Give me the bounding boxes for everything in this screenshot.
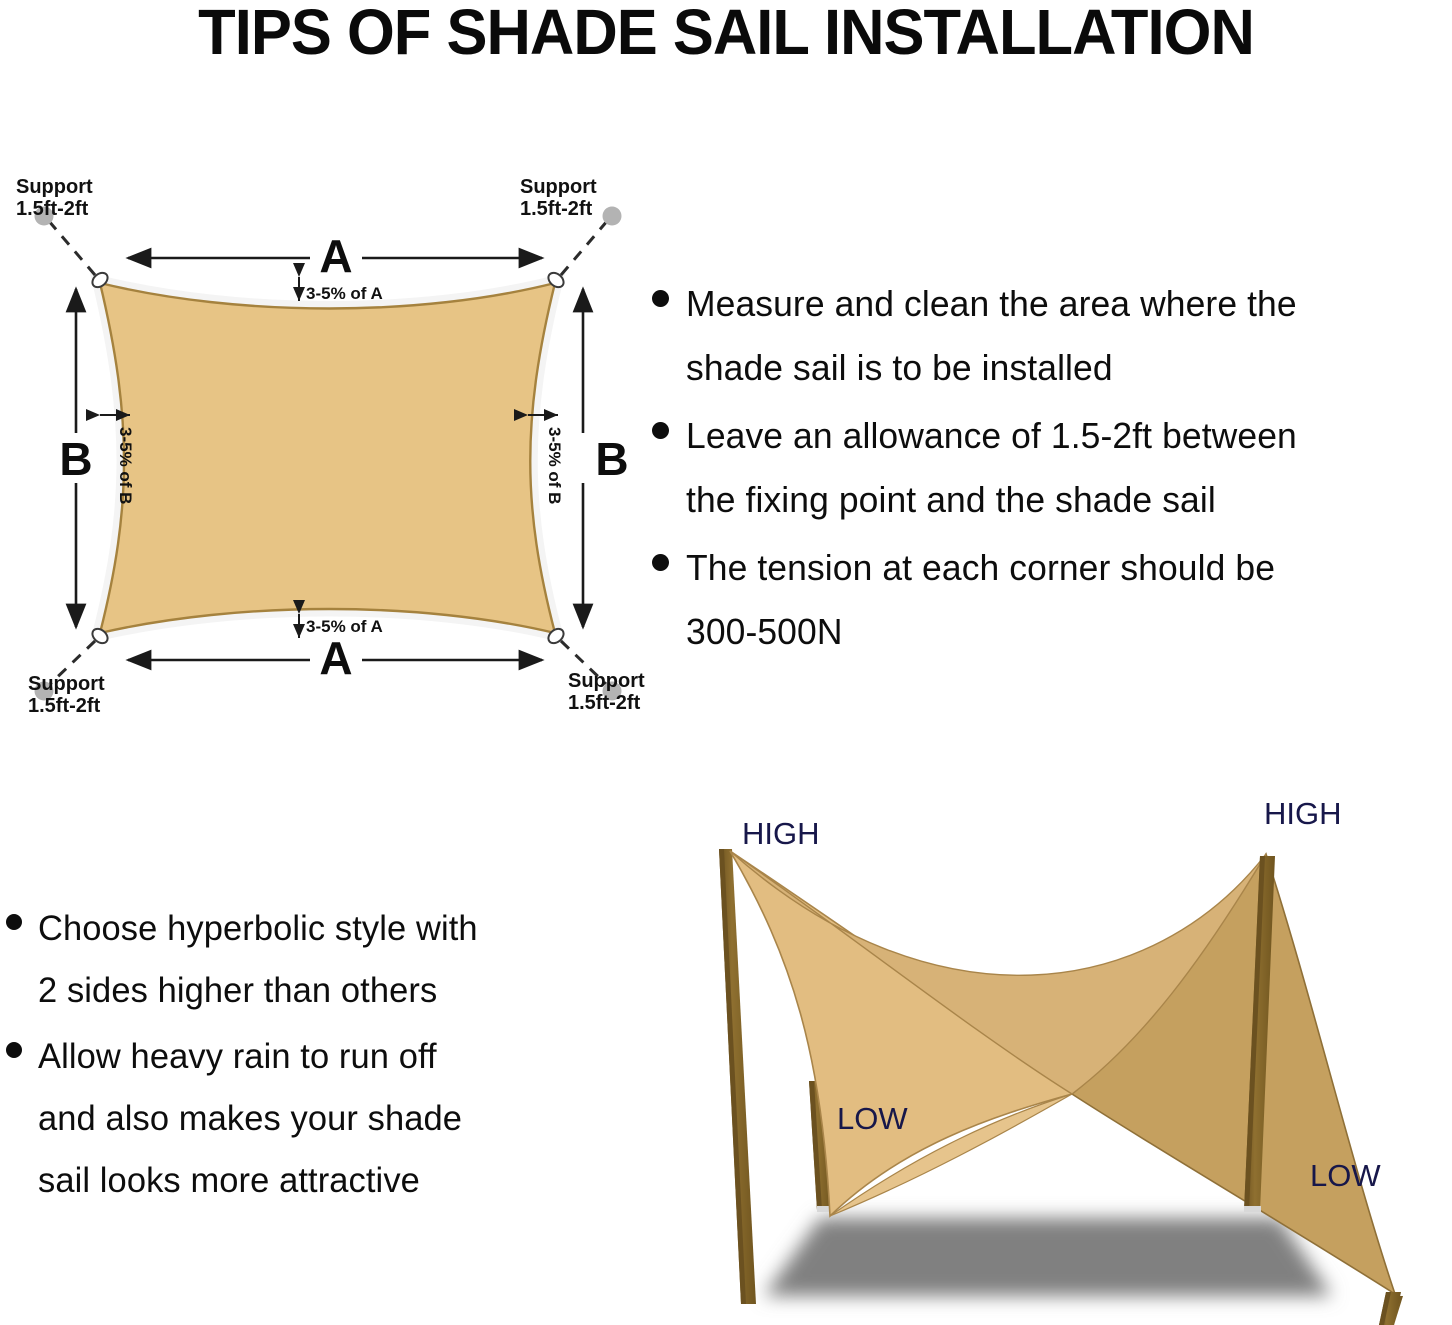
ground-shadow [764, 1218, 1332, 1296]
dimension-b-right-label: B [595, 433, 628, 485]
support-label-bottom-right-line2: 1.5ft-2ft [568, 692, 641, 714]
support-label-bottom-right-line1: Support [568, 670, 645, 692]
label-low-right: LOW [1310, 1158, 1381, 1193]
support-label-bottom-left-line2: 1.5ft-2ft [28, 695, 101, 717]
bullet-dot-icon [6, 1042, 22, 1058]
dimension-a-top-label: A [319, 230, 352, 282]
support-line-top-right [561, 220, 608, 275]
support-label-top-right-line1: Support [520, 176, 597, 198]
curve-callout-left: 3-5% of B [100, 415, 135, 504]
curve-callout-bottom: 3-5% of A [299, 614, 383, 638]
dimension-b-right: B [583, 289, 629, 627]
bullet-dot-icon [652, 290, 669, 307]
dimension-a-bottom: A [128, 632, 542, 684]
support-label-top-right-line2: 1.5ft-2ft [520, 198, 593, 220]
hyperbolic-sail-diagram: HIGH HIGH LOW LOW [672, 786, 1452, 1325]
curve-callout-left-label: 3-5% of B [116, 427, 135, 504]
list-item-label: Allow heavy rain to run off and also mak… [38, 1026, 462, 1212]
support-line-top-left [48, 220, 95, 275]
support-dot-top-right [603, 207, 622, 226]
page-title: TIPS OF SHADE SAIL INSTALLATION [29, 0, 1423, 68]
dimension-a-top: A [128, 230, 542, 282]
dimension-b-left-label: B [59, 433, 92, 485]
label-high-left: HIGH [742, 816, 820, 851]
support-label-top-left-line1: Support [16, 176, 93, 198]
installation-tips-list: Measure and clean the area where the sha… [652, 272, 1452, 668]
list-item-label: Choose hyperbolic style with 2 sides hig… [38, 898, 478, 1022]
label-low-left: LOW [837, 1101, 908, 1136]
curve-callout-top-label: 3-5% of A [306, 284, 383, 303]
bullet-dot-icon [652, 554, 669, 571]
list-item: Leave an allowance of 1.5-2ft between th… [652, 404, 1452, 532]
support-label-bottom-left-line1: Support [28, 673, 105, 695]
rectangular-sail-diagram: Support 1.5ft-2ft Support 1.5ft-2ft Supp… [0, 165, 660, 725]
dimension-b-left: B [59, 289, 92, 627]
curve-callout-bottom-label: 3-5% of A [306, 617, 383, 636]
support-label-top-left-line2: 1.5ft-2ft [16, 198, 89, 220]
list-item-label: Leave an allowance of 1.5-2ft between th… [686, 404, 1297, 532]
list-item: Allow heavy rain to run off and also mak… [6, 1026, 626, 1212]
curve-callout-right-label: 3-5% of B [545, 427, 564, 504]
label-high-right: HIGH [1264, 796, 1342, 831]
shade-sail-shape [100, 283, 555, 633]
list-item-label: The tension at each corner should be 300… [686, 536, 1275, 664]
hyperbolic-style-tips-list: Choose hyperbolic style with 2 sides hig… [6, 898, 626, 1216]
bullet-dot-icon [652, 422, 669, 439]
list-item: Choose hyperbolic style with 2 sides hig… [6, 898, 626, 1022]
list-item: The tension at each corner should be 300… [652, 536, 1452, 664]
list-item-label: Measure and clean the area where the sha… [686, 272, 1297, 400]
post-low-right [1379, 1292, 1403, 1325]
dimension-a-bottom-label: A [319, 632, 352, 684]
bullet-dot-icon [6, 914, 22, 930]
post-back-left [719, 849, 756, 1304]
list-item: Measure and clean the area where the sha… [652, 272, 1452, 400]
